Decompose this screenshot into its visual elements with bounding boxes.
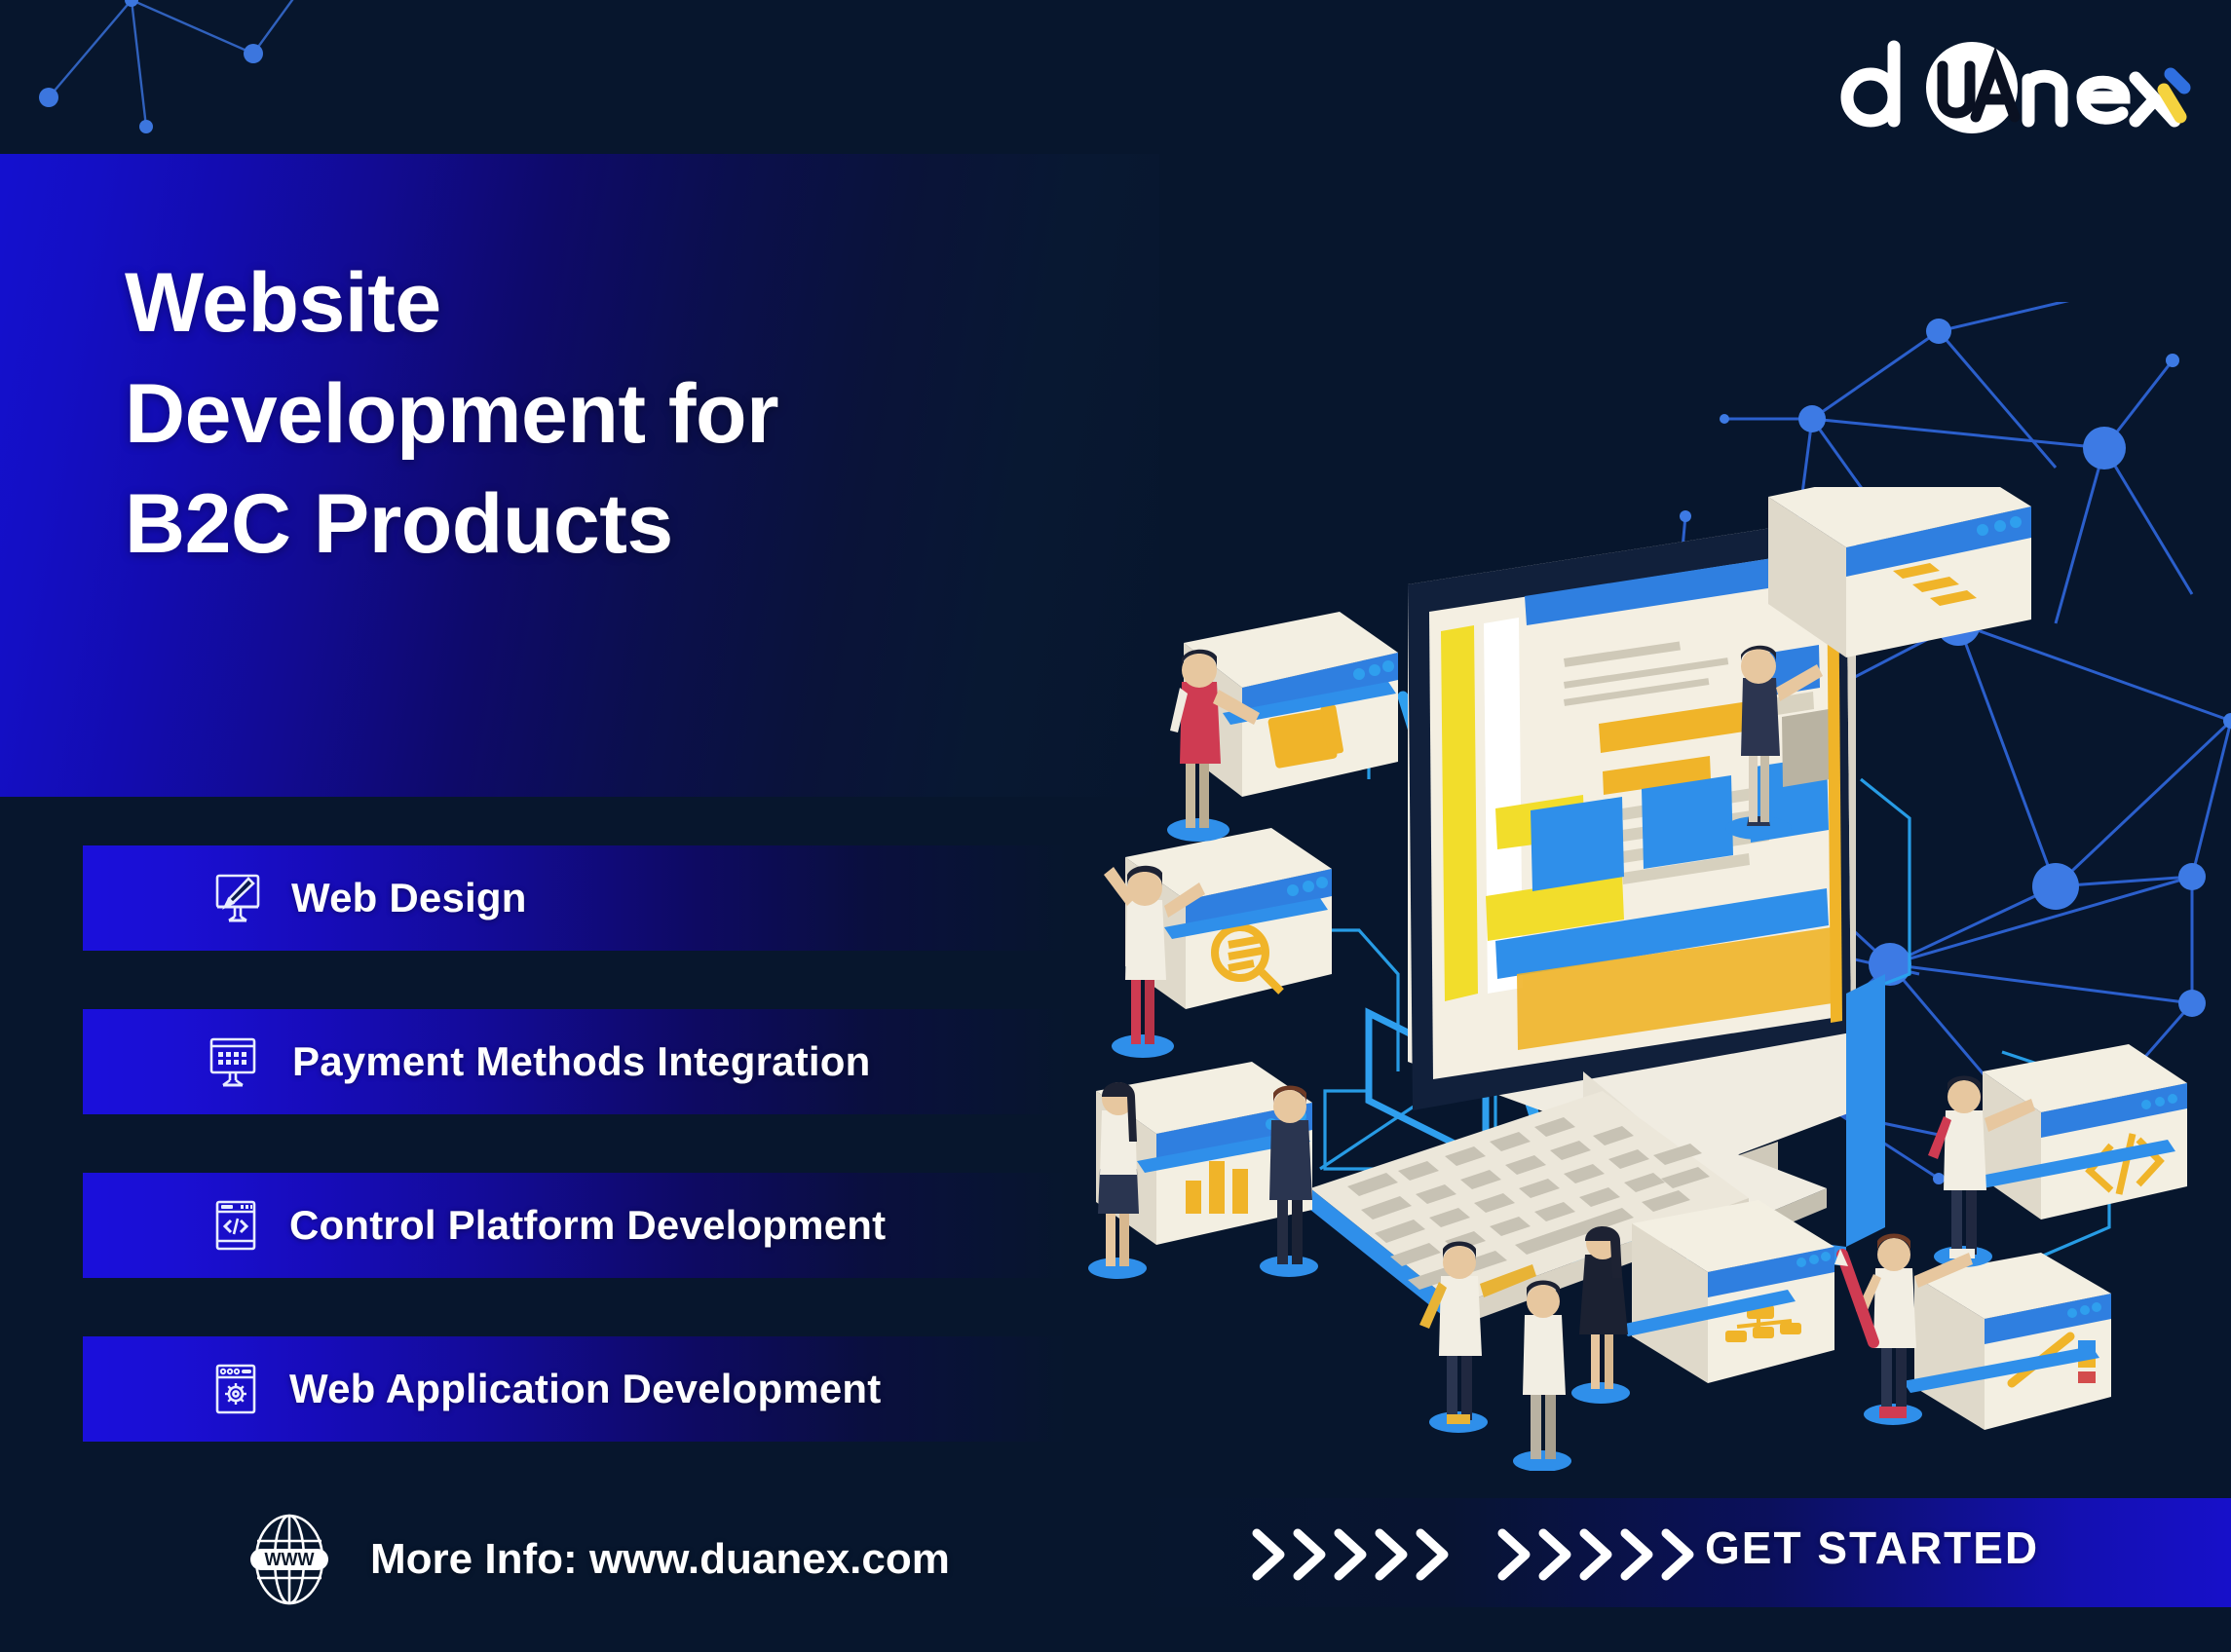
feature-list: Web Design Payment Met	[83, 845, 1067, 1442]
more-info-block[interactable]: WWW More Info: www.duanex.com	[242, 1512, 950, 1607]
feature-label: Web Application Development	[289, 1366, 881, 1412]
feature-item-web-design[interactable]: Web Design	[83, 845, 1067, 951]
headline-line-1: Website	[125, 248, 1099, 359]
card-sitemap-bottom	[1620, 1200, 1834, 1383]
card-code	[1965, 1044, 2187, 1220]
feature-label: Web Design	[291, 875, 527, 921]
browser-gear-icon	[208, 1361, 264, 1417]
person-bottom-2	[1513, 1281, 1571, 1472]
monitor-brush-icon	[209, 870, 266, 926]
feature-item-control-platform-development[interactable]: Control Platform Development	[83, 1173, 1067, 1278]
headline-line-3: B2C Products	[125, 469, 1099, 581]
monitor-keypad-icon	[205, 1033, 261, 1090]
feature-label: Payment Methods Integration	[292, 1038, 870, 1085]
get-started-button[interactable]: GET STARTED	[1705, 1521, 2039, 1574]
network-mesh-topleft	[0, 0, 701, 175]
brand-logo-duanex[interactable]	[1828, 33, 2198, 142]
more-info-text: More Info: www.duanex.com	[370, 1535, 950, 1584]
chevron-group-1	[1249, 1520, 1473, 1590]
headline-line-2: Development for	[125, 359, 1099, 470]
poster-canvas: Website Development for B2C Products	[0, 0, 2231, 1652]
isometric-web-development-illustration	[1077, 487, 2231, 1471]
page-title: Website Development for B2C Products	[125, 248, 1099, 581]
feature-item-payment-methods-integration[interactable]: Payment Methods Integration	[83, 1009, 1067, 1114]
www-globe-icon: WWW	[242, 1512, 337, 1607]
chevron-group-2	[1494, 1520, 1719, 1590]
globe-www-label: WWW	[265, 1550, 315, 1569]
feature-item-web-application-development[interactable]: Web Application Development	[83, 1336, 1067, 1442]
feature-label: Control Platform Development	[289, 1202, 886, 1249]
code-window-icon	[208, 1197, 264, 1254]
chevron-arrows	[1249, 1520, 1719, 1590]
